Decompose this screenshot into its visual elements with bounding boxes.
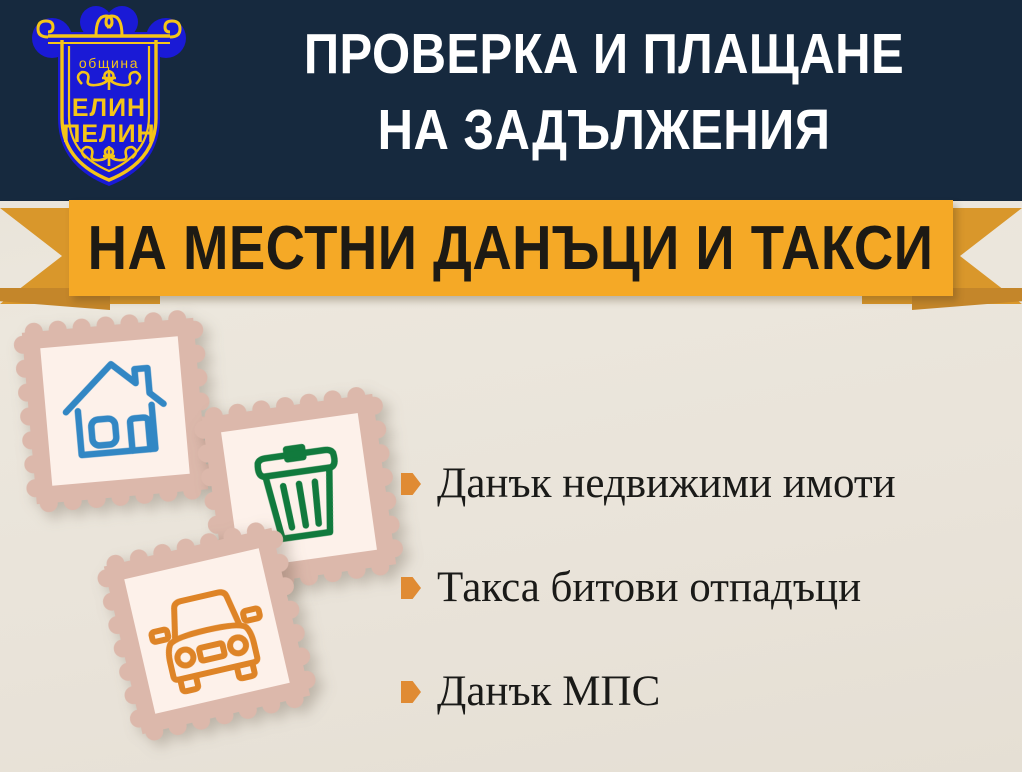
municipality-logo: община ЕЛИН ПЕЛИН [24, 6, 194, 192]
page-title: ПРОВЕРКА И ПЛАЩАНЕ НА ЗАДЪЛЖЕНИЯ [253, 16, 955, 168]
list-item[interactable]: Данък недвижими имоти [401, 432, 1011, 536]
arrow-bullet-icon [401, 473, 421, 495]
tax-type-list: Данък недвижими имоти Такса битови отпад… [401, 432, 1011, 744]
arrow-bullet-icon [401, 577, 421, 599]
ribbon-banner: НА МЕСТНИ ДАНЪЦИ И ТАКСИ [0, 196, 1022, 316]
svg-text:община: община [79, 55, 139, 71]
page-title-line-1: ПРОВЕРКА И ПЛАЩАНЕ [304, 22, 904, 86]
ribbon-label: НА МЕСТНИ ДАНЪЦИ И ТАКСИ [88, 213, 934, 284]
list-item-label: Такса битови отпадъци [437, 565, 861, 610]
list-item-label: Данък недвижими имоти [437, 461, 896, 506]
svg-text:ПЕЛИН: ПЕЛИН [62, 120, 155, 148]
header-bar: община ЕЛИН ПЕЛИН [0, 0, 1022, 201]
ribbon-center-panel: НА МЕСТНИ ДАНЪЦИ И ТАКСИ [69, 200, 953, 296]
stamp-card-house [12, 308, 218, 514]
poster-root: община ЕЛИН ПЕЛИН [0, 0, 1022, 772]
list-item[interactable]: Такса битови отпадъци [401, 536, 1011, 640]
list-item-label: Данък МПС [437, 669, 660, 714]
arrow-bullet-icon [401, 681, 421, 703]
svg-text:ЕЛИН: ЕЛИН [72, 94, 146, 122]
list-item[interactable]: Данък МПС [401, 640, 1011, 744]
page-title-line-2: НА ЗАДЪЛЖЕНИЯ [253, 92, 955, 168]
